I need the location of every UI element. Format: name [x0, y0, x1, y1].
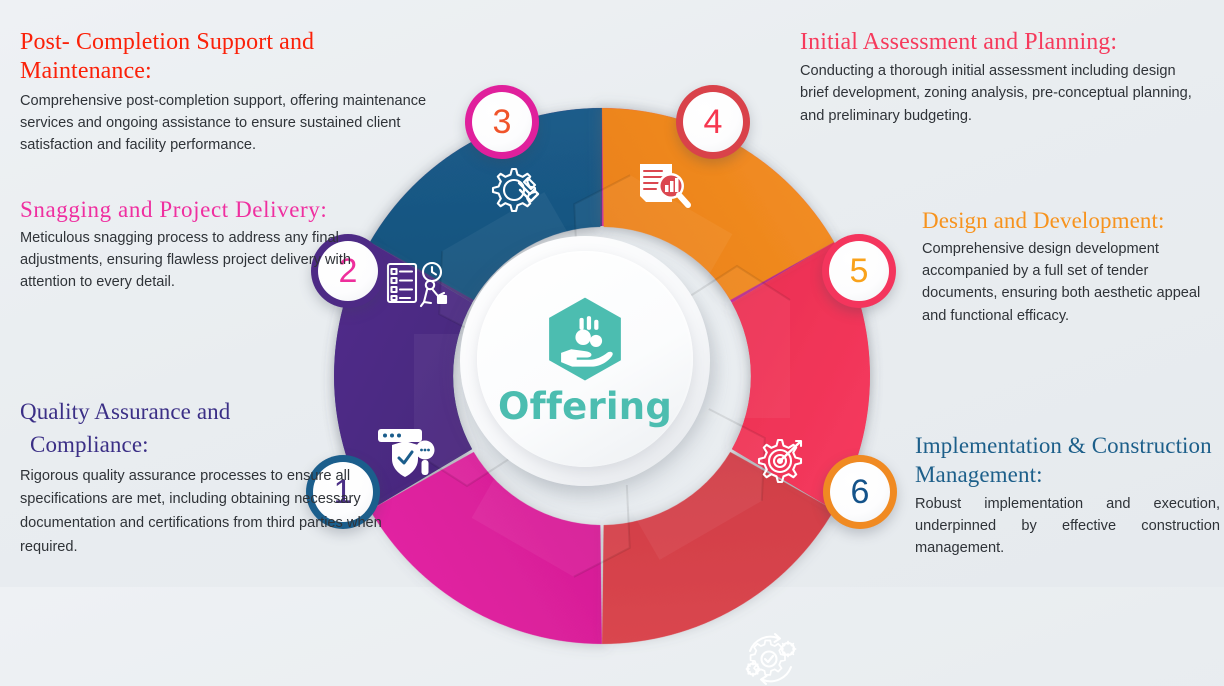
infographic-canvas: Offering 1 2 3 4 5 6 Post- Completion Su… [0, 0, 1224, 587]
initial-assessment-title: Initial Assessment and Planning: [800, 28, 1200, 57]
step-badge-4[interactable]: 4 [676, 85, 750, 159]
step-badge-5[interactable]: 5 [822, 234, 896, 308]
step-badge-6[interactable]: 6 [823, 455, 897, 529]
quality-assurance-body: Rigorous quality assurance processes to … [20, 465, 385, 560]
design-development-title: Design and Development: [922, 207, 1214, 235]
gears-cycle-check-icon [747, 634, 796, 684]
text-block-quality-assurance: Quality Assurance andCompliance: Rigorou… [20, 395, 385, 559]
text-block-initial-assessment: Initial Assessment and Planning: Conduct… [800, 28, 1200, 127]
step-number-5: 5 [829, 241, 889, 301]
design-development-body: Comprehensive design development accompa… [922, 238, 1214, 327]
post-completion-body: Comprehensive post-completion support, o… [20, 90, 452, 157]
text-block-design-development: Design and Development: Comprehensive de… [922, 207, 1214, 327]
snagging-body: Meticulous snagging process to address a… [20, 227, 360, 294]
step-number-6: 6 [830, 462, 890, 522]
qa-title-line-1: Quality Assurance and [20, 399, 230, 424]
post-completion-title: Post- Completion Support and Maintenance… [20, 28, 452, 87]
text-block-post-completion: Post- Completion Support and Maintenance… [20, 28, 452, 156]
quality-assurance-title: Quality Assurance andCompliance: [20, 395, 385, 462]
text-block-implementation: Implementation & Construction Management… [915, 431, 1220, 559]
text-block-snagging: Snagging and Project Delivery: Meticulou… [20, 196, 360, 294]
snagging-title: Snagging and Project Delivery: [20, 196, 360, 224]
initial-assessment-body: Conducting a thorough initial assessment… [800, 60, 1200, 127]
qa-title-line-2: Compliance: [20, 428, 149, 461]
step-number-4: 4 [683, 92, 743, 152]
implementation-title: Implementation & Construction Management… [915, 431, 1220, 490]
process-wheel [292, 66, 912, 686]
step-badge-3[interactable]: 3 [465, 85, 539, 159]
implementation-body: Robust implementation and execution, und… [915, 493, 1220, 560]
step-number-3: 3 [472, 92, 532, 152]
